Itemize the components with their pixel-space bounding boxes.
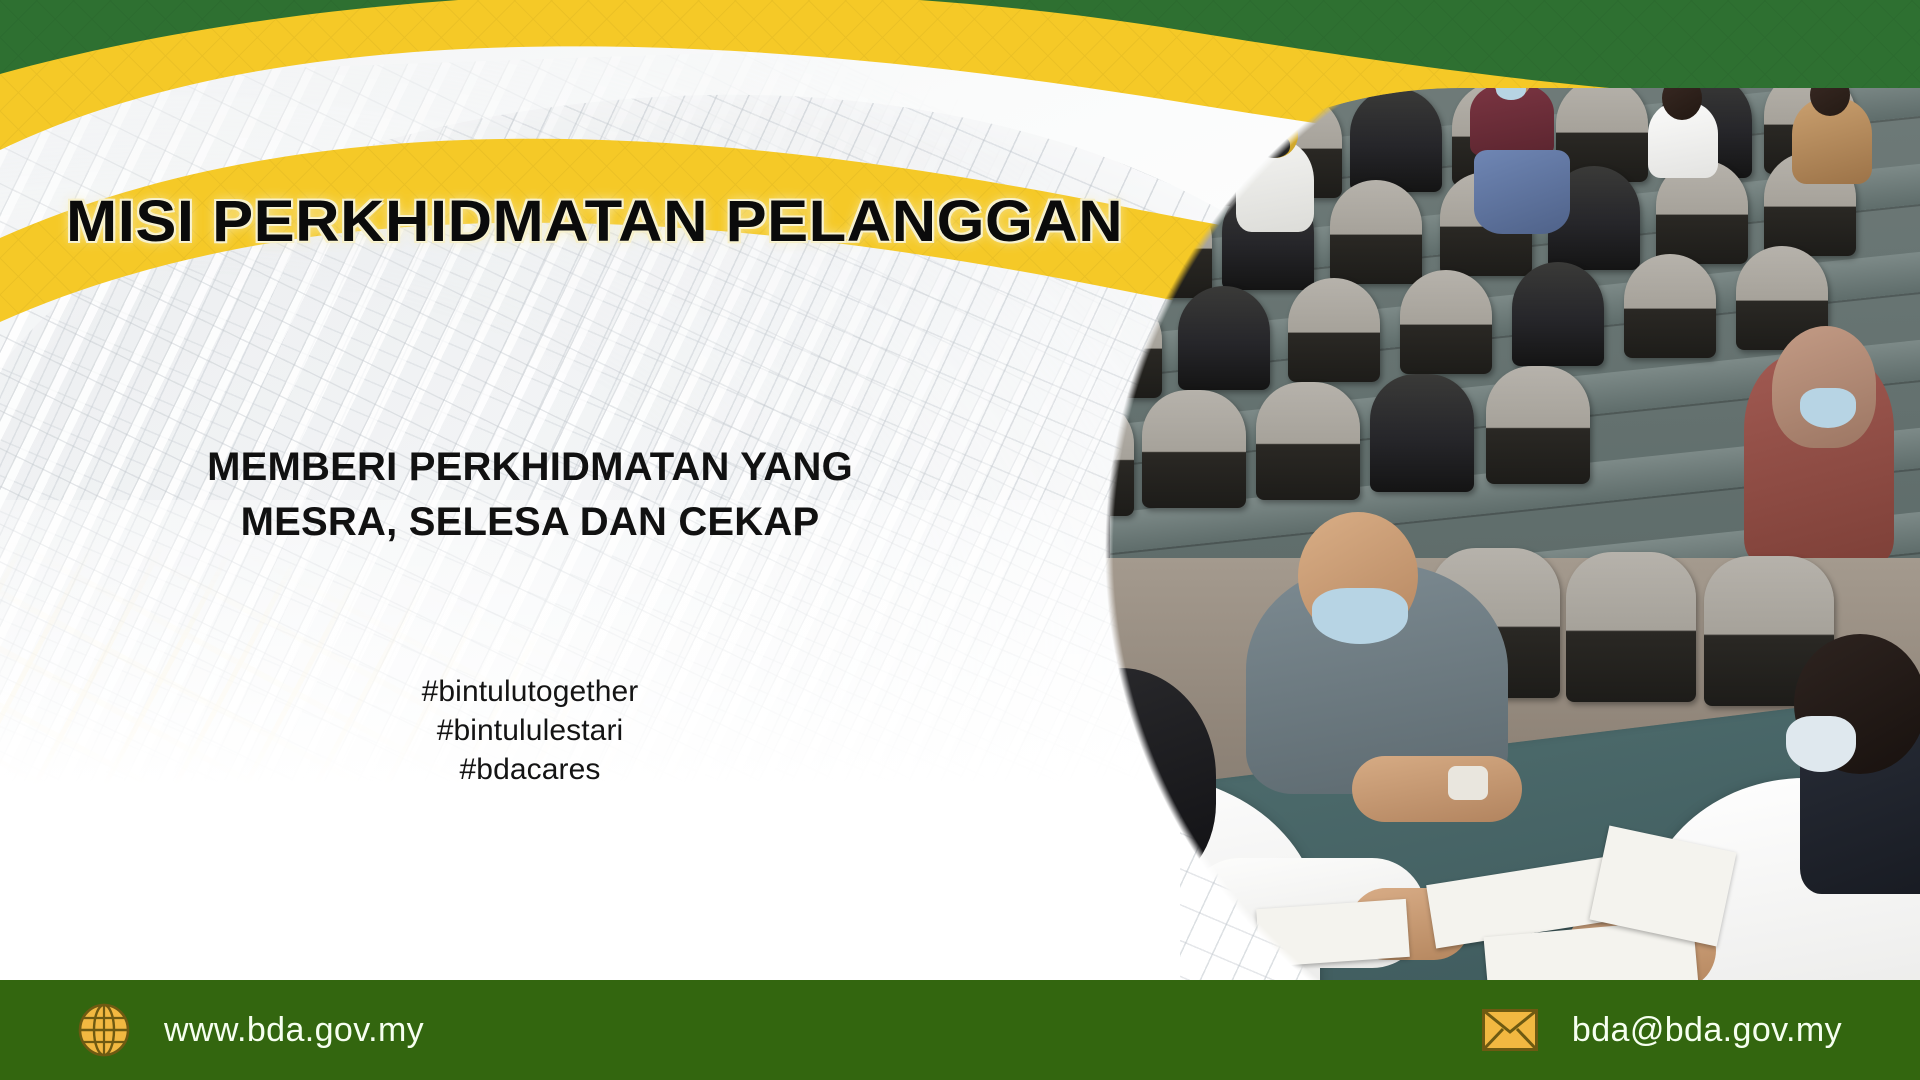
face-mask bbox=[1312, 588, 1408, 644]
hashtag-bdacares: #bdacares bbox=[0, 750, 1060, 789]
mission-statement: MEMBERI PERKHIDMATAN YANG MESRA, SELESA … bbox=[0, 440, 1060, 550]
mail-icon bbox=[1482, 1009, 1538, 1051]
hashtag-bintulutogether: #bintulutogether bbox=[0, 672, 1060, 711]
hashtag-bintululestari: #bintululestari bbox=[0, 711, 1060, 750]
poster-root: MISI PERKHIDMATAN PELANGGAN MEMBERI PERK… bbox=[0, 0, 1920, 1080]
auditorium-scene bbox=[1000, 88, 1920, 608]
contact-footer: www.bda.gov.my bda@bda.gov.my bbox=[0, 980, 1920, 1080]
mission-line-2: MESRA, SELESA DAN CEKAP bbox=[0, 495, 1060, 550]
mission-line-1: MEMBERI PERKHIDMATAN YANG bbox=[0, 440, 1060, 495]
website-contact[interactable]: www.bda.gov.my bbox=[78, 1003, 424, 1057]
globe-icon bbox=[78, 1003, 130, 1057]
email-address: bda@bda.gov.my bbox=[1572, 1011, 1842, 1050]
email-contact[interactable]: bda@bda.gov.my bbox=[1482, 1009, 1842, 1051]
website-url: www.bda.gov.my bbox=[164, 1011, 424, 1050]
staff-right-mask bbox=[1786, 716, 1856, 772]
hashtag-block: #bintulutogether #bintululestari #bdacar… bbox=[0, 672, 1060, 789]
service-photo bbox=[1000, 88, 1920, 1012]
page-title: MISI PERKHIDMATAN PELANGGAN bbox=[66, 192, 1126, 253]
wristwatch bbox=[1448, 766, 1488, 800]
forearm bbox=[1352, 756, 1522, 822]
form-paper-4 bbox=[1256, 899, 1410, 967]
